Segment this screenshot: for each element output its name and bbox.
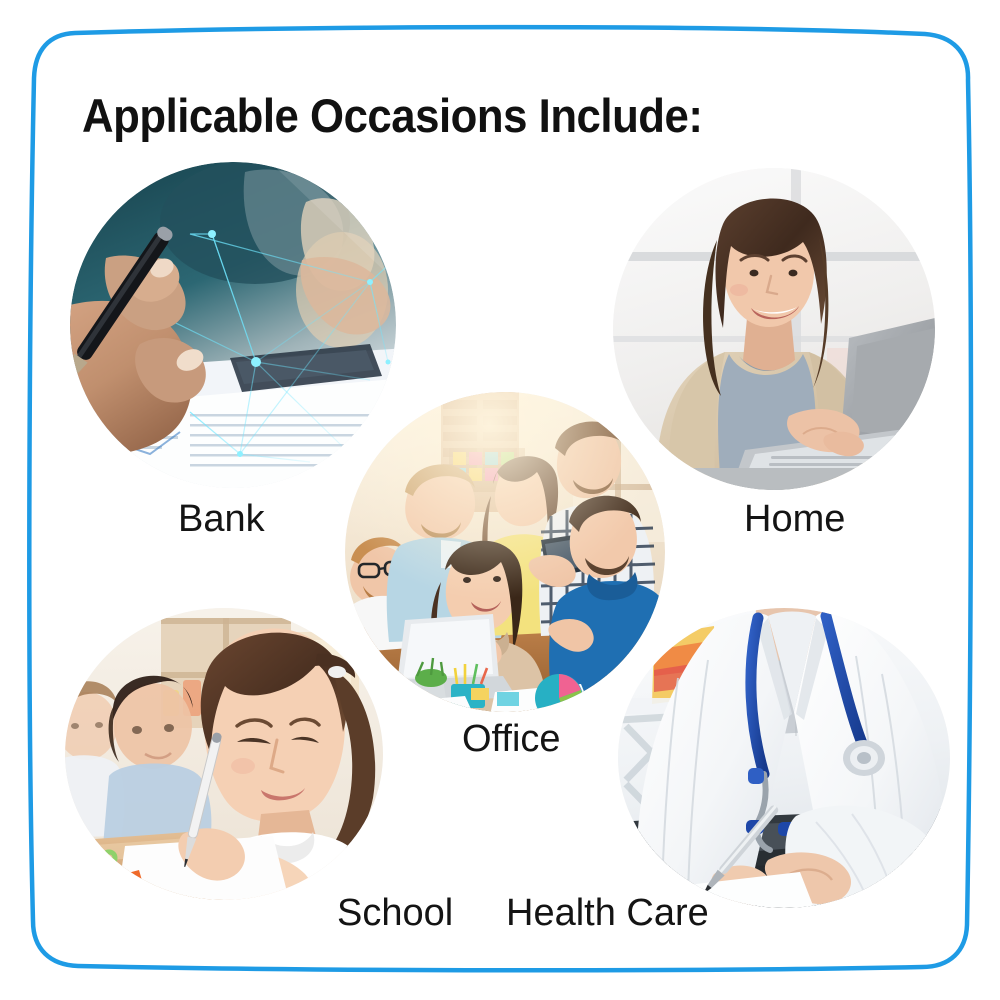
occasion-label-bank: Bank	[178, 498, 265, 541]
infographic-page: Applicable Occasions Include:	[0, 0, 1000, 1000]
occasion-label-home: Home	[744, 498, 845, 541]
occasion-label-office: Office	[462, 718, 561, 761]
occasion-label-school: School	[337, 892, 453, 935]
occasion-image-health-care	[618, 608, 950, 908]
occasion-image-bank	[70, 162, 396, 488]
occasion-label-health-care: Health Care	[506, 892, 709, 935]
page-title: Applicable Occasions Include:	[82, 88, 702, 143]
occasion-image-office	[345, 392, 665, 712]
occasion-image-school	[65, 608, 383, 900]
occasion-image-home	[613, 168, 935, 490]
